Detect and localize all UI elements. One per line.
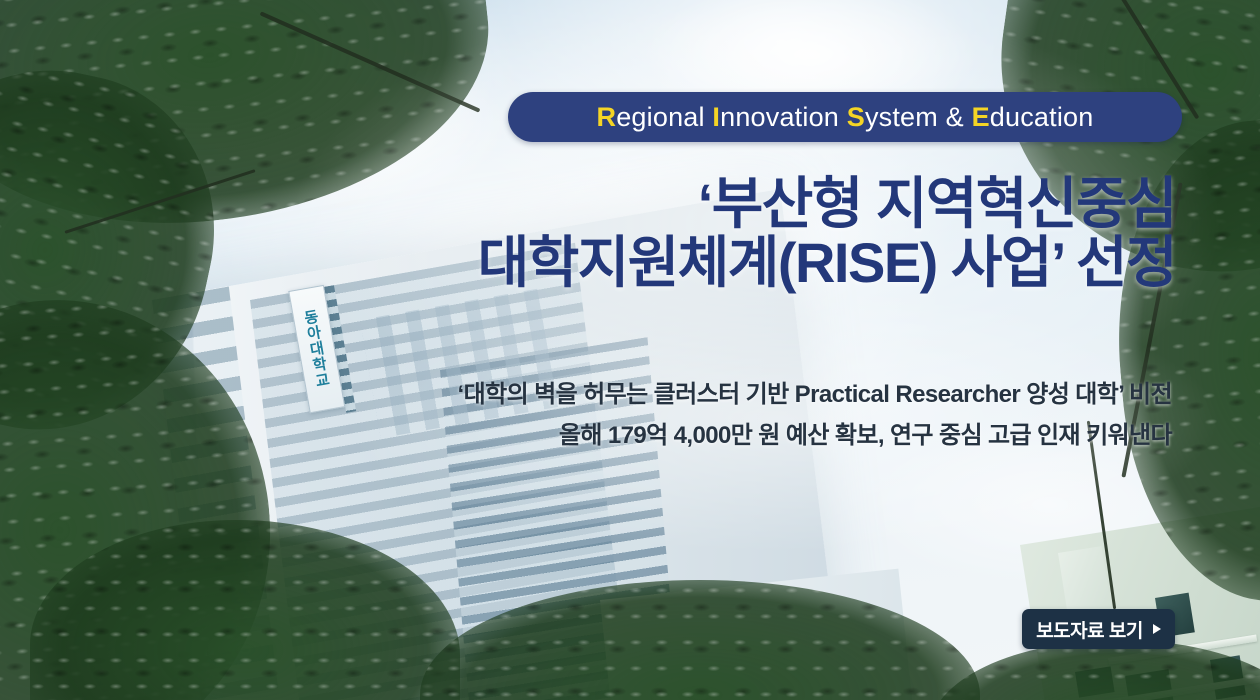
subtitle-line-1: ‘대학의 벽을 허무는 클러스터 기반 Practical Researcher…	[0, 374, 1172, 415]
rise-promo-banner: 동 아 대 학 교 Regional Innovat	[0, 0, 1260, 700]
acronym-letter-s: S	[847, 102, 865, 132]
banner-subtitle: ‘대학의 벽을 허무는 클러스터 기반 Practical Researcher…	[0, 374, 1186, 457]
play-arrow-icon	[1153, 624, 1161, 634]
acronym-word-system: ystem &	[865, 102, 972, 132]
headline-line-2: 대학지원체계(RISE) 사업’ 선정	[0, 234, 1176, 293]
rise-acronym-text: Regional Innovation System & Education	[597, 102, 1094, 133]
cta-label: 보도자료 보기	[1036, 616, 1143, 643]
rise-acronym-badge: Regional Innovation System & Education	[508, 92, 1182, 142]
acronym-letter-e: E	[972, 102, 990, 132]
acronym-letter-r: R	[597, 102, 617, 132]
view-press-release-button[interactable]: 보도자료 보기	[1022, 609, 1175, 649]
banner-content-layer: Regional Innovation System & Education ‘…	[0, 0, 1260, 700]
acronym-letter-i: I	[712, 102, 720, 132]
headline-line-1: ‘부산형 지역혁신중심	[698, 172, 1176, 235]
acronym-word-innovation: nnovation	[720, 102, 847, 132]
acronym-word-education: ducation	[990, 102, 1094, 132]
subtitle-line-2: 올해 179억 4,000만 원 예산 확보, 연구 중심 고급 인재 키워낸다	[0, 415, 1172, 456]
acronym-word-regional: egional	[616, 102, 712, 132]
banner-headline: ‘부산형 지역혁신중심 대학지원체계(RISE) 사업’ 선정	[0, 175, 1190, 293]
